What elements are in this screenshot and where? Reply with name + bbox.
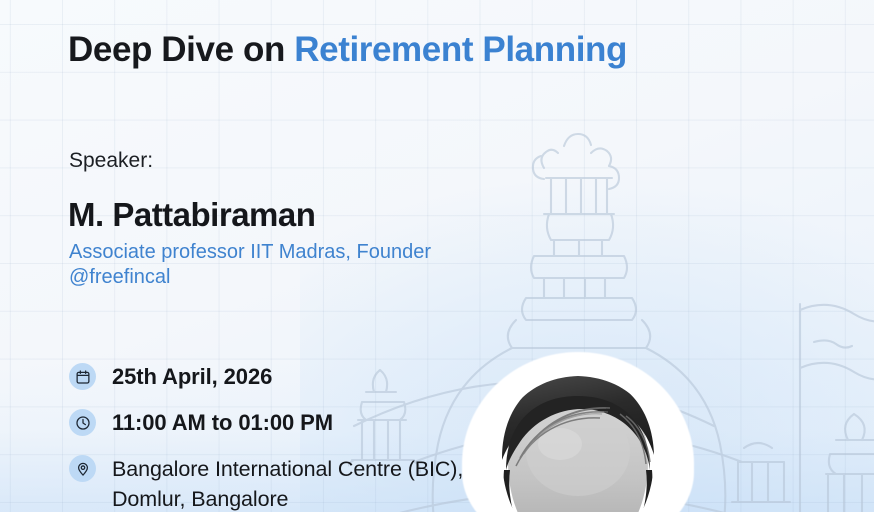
event-poster: Deep Dive on Retirement Planning Speaker… [0,0,874,512]
detail-row-time: 11:00 AM to 01:00 PM [69,408,489,437]
clock-icon [69,409,96,436]
detail-row-location: Bangalore International Centre (BIC), Do… [69,454,489,512]
page-title: Deep Dive on Retirement Planning [68,30,627,70]
detail-text-location: Bangalore International Centre (BIC), Do… [112,454,482,512]
speaker-name: M. Pattabiraman [68,196,315,234]
title-plain-part: Deep Dive on [68,30,294,69]
calendar-icon [69,363,96,390]
map-pin-icon [69,455,96,482]
title-accent-part: Retirement Planning [294,30,627,69]
detail-row-date: 25th April, 2026 [69,362,489,391]
detail-text-time: 11:00 AM to 01:00 PM [112,408,333,437]
detail-text-date: 25th April, 2026 [112,362,272,391]
speaker-role: Associate professor IIT Madras, Founder … [69,240,469,290]
event-details-list: 25th April, 2026 11:00 AM to 01:00 PM Ba… [69,362,489,512]
speaker-label: Speaker: [69,149,153,173]
